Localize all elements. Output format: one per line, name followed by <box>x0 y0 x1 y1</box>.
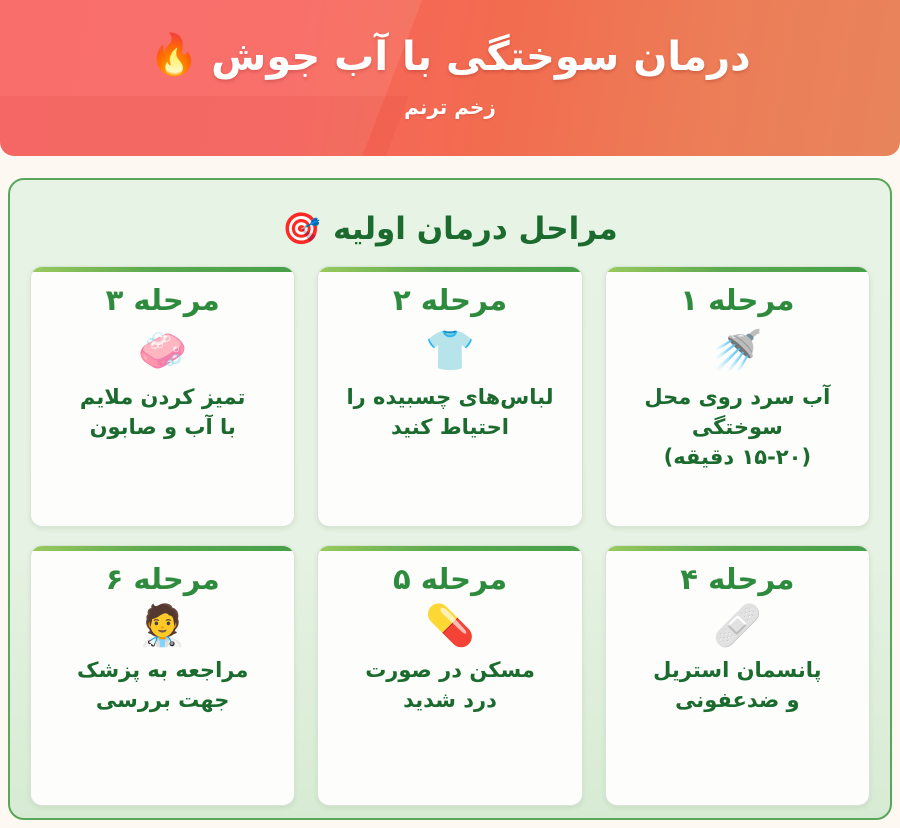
page-subtitle: زخم ترنم <box>404 95 496 119</box>
step-card-6[interactable]: مرحله ۶ 🧑‍⚕️ مراجعه به پزشک جهت بررسی <box>30 545 295 806</box>
step-card-3[interactable]: مرحله ۳ 🧼 تمیز کردن ملایم با آب و صابون <box>30 266 295 527</box>
step-description: مسکن در صورت درد شدید <box>365 656 535 716</box>
tshirt-icon: 👕 <box>425 331 475 371</box>
treatment-steps-panel: 🎯 مراحل درمان اولیه مرحله ۱ 🚿 آب سرد روی… <box>8 178 892 820</box>
step-label: مرحله ۱ <box>680 285 794 317</box>
step-card-2[interactable]: مرحله ۲ 👕 لباس‌های چسبیده را احتیاط کنید <box>317 266 582 527</box>
step-card-1[interactable]: مرحله ۱ 🚿 آب سرد روی محل سوختگی (۱۵-۲۰ د… <box>605 266 870 527</box>
step-card-5[interactable]: مرحله ۵ 💊 مسکن در صورت درد شدید <box>317 545 582 806</box>
bandage-icon: 🩹 <box>712 606 762 646</box>
dart-target-icon: 🎯 <box>282 214 321 245</box>
header-banner: 🔥 درمان سوختگی با آب جوش زخم ترنم <box>0 0 900 156</box>
step-description: پانسمان استریل و ضدعفونی <box>653 656 821 716</box>
pill-icon: 💊 <box>425 606 475 646</box>
step-description: لباس‌های چسبیده را احتیاط کنید <box>346 383 553 443</box>
step-label: مرحله ۳ <box>106 285 220 317</box>
step-label: مرحله ۵ <box>393 564 507 596</box>
section-title: مراحل درمان اولیه <box>333 211 618 247</box>
step-description: آب سرد روی محل سوختگی (۱۵-۲۰ دقیقه) <box>618 383 857 472</box>
fire-icon: 🔥 <box>149 35 199 75</box>
steps-grid: مرحله ۱ 🚿 آب سرد روی محل سوختگی (۱۵-۲۰ د… <box>30 266 870 806</box>
step-label: مرحله ۴ <box>680 564 794 596</box>
doctor-icon: 🧑‍⚕️ <box>138 606 188 646</box>
shower-icon: 🚿 <box>712 331 762 371</box>
step-label: مرحله ۲ <box>393 285 507 317</box>
step-description: تمیز کردن ملایم با آب و صابون <box>80 383 246 443</box>
header-title-row: 🔥 درمان سوختگی با آب جوش <box>149 32 750 82</box>
step-label: مرحله ۶ <box>106 564 220 596</box>
page-title: درمان سوختگی با آب جوش <box>211 32 751 82</box>
soap-icon: 🧼 <box>138 331 188 371</box>
header-content: 🔥 درمان سوختگی با آب جوش زخم ترنم <box>0 0 900 156</box>
step-description: مراجعه به پزشک جهت بررسی <box>77 656 248 716</box>
step-card-4[interactable]: مرحله ۴ 🩹 پانسمان استریل و ضدعفونی <box>605 545 870 806</box>
section-heading-row: 🎯 مراحل درمان اولیه <box>30 198 870 260</box>
